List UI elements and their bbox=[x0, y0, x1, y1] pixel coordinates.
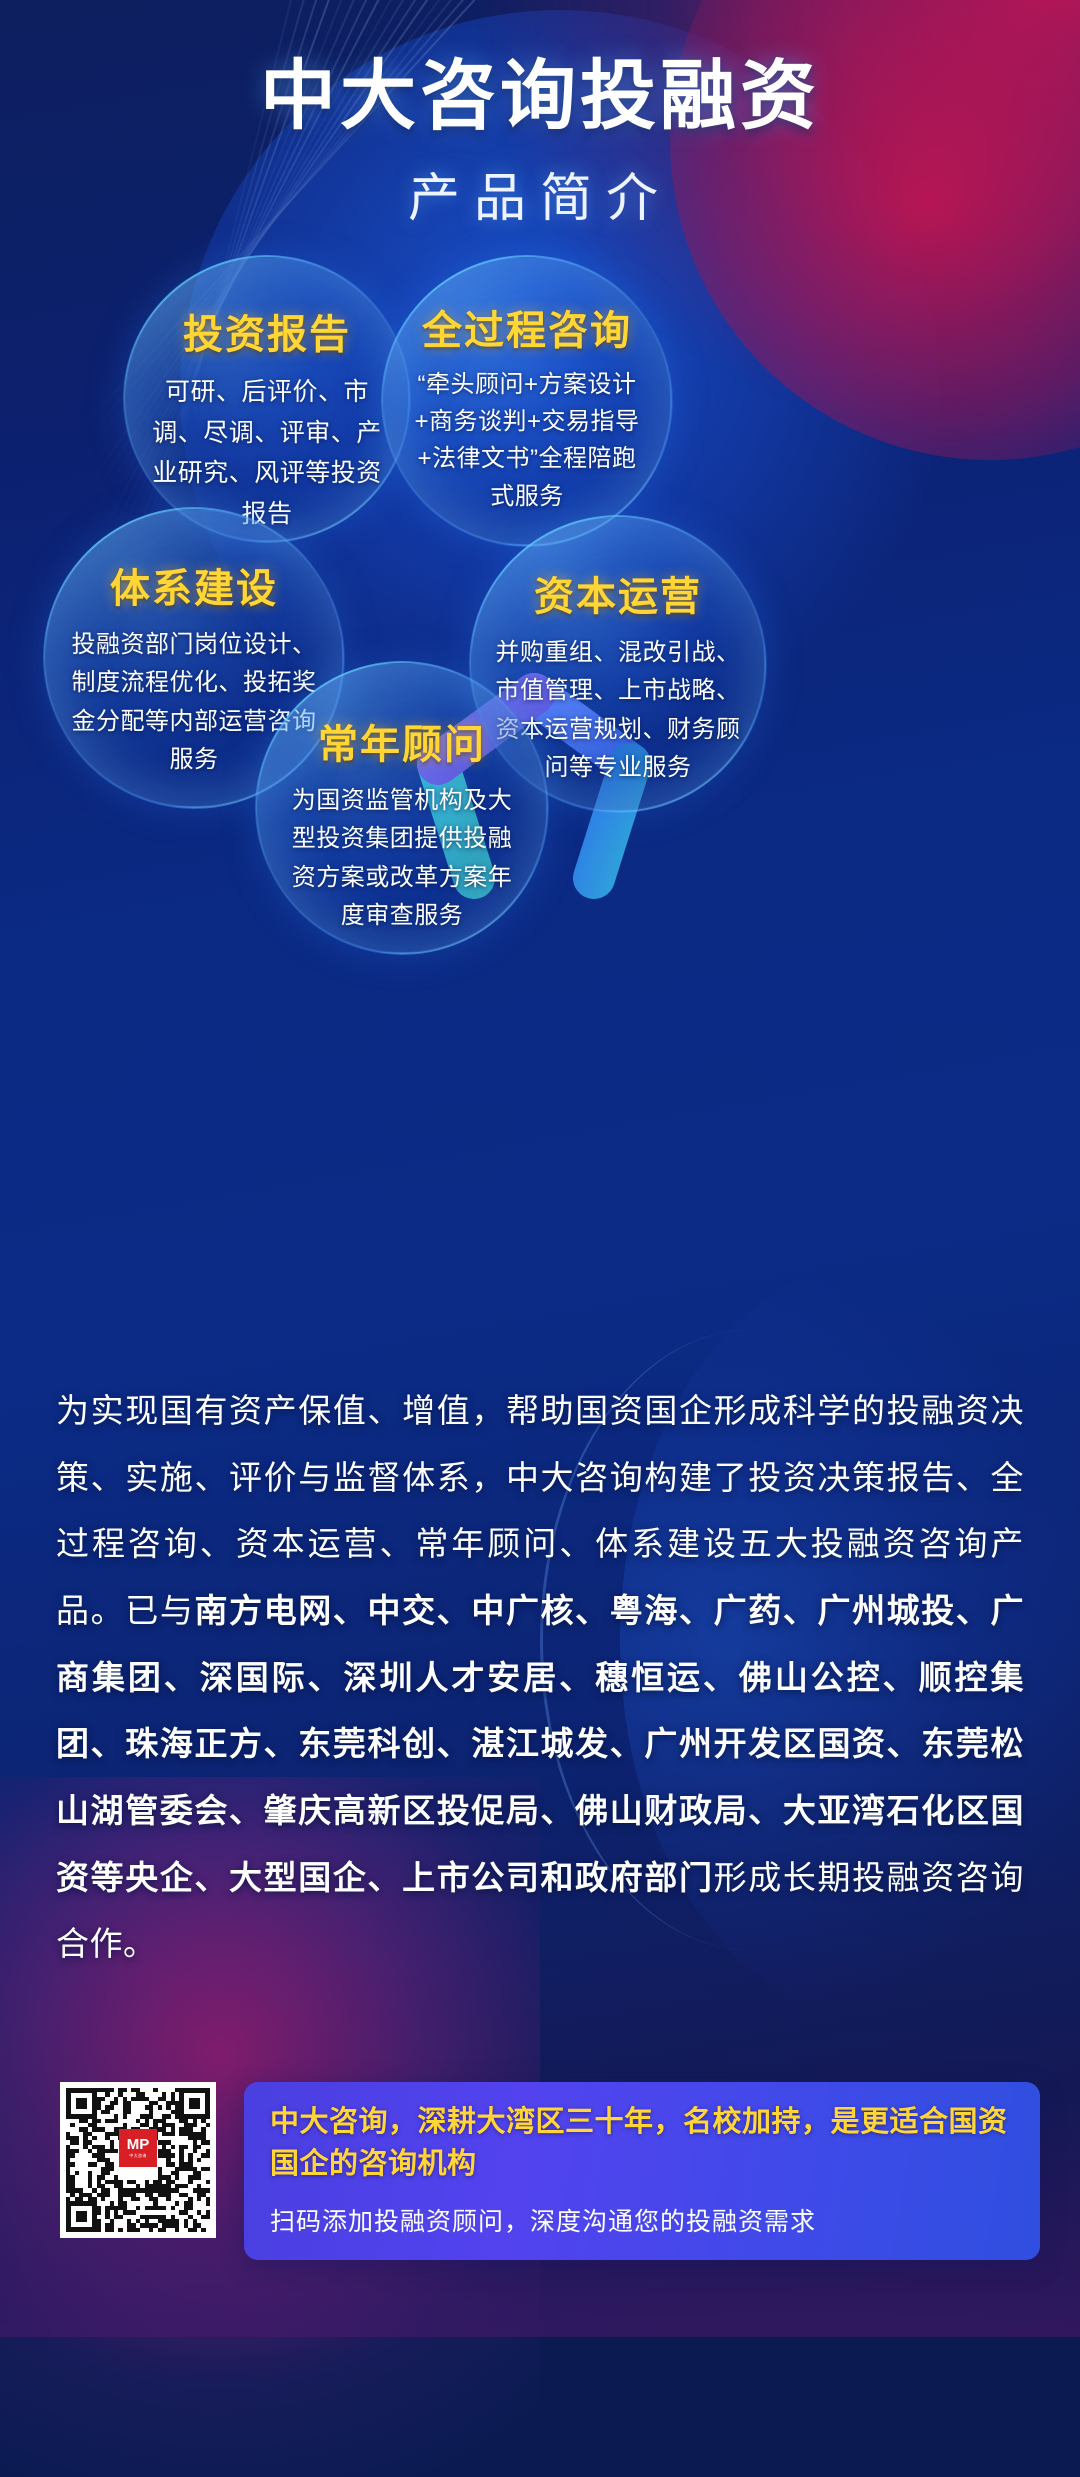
page-subtitle: 产品简介 bbox=[0, 156, 1080, 231]
bubble-title-advisor: 常年顾问 bbox=[318, 712, 486, 770]
page-title: 中大咨询投融资 bbox=[0, 56, 1080, 138]
bubble-title-system: 体系建设 bbox=[110, 556, 278, 614]
qr-logo-text: MP bbox=[127, 2137, 150, 2152]
qr-code-logo: MP 中大咨询 bbox=[119, 2129, 157, 2167]
bubble-full-process-consulting[interactable]: 全过程咨询 “牵头顾问+方案设计+商务谈判+交易指导+法律文书”全程陪跑式服务 bbox=[382, 256, 672, 546]
bubble-body-process: “牵头顾问+方案设计+商务谈判+交易指导+法律文书”全程陪跑式服务 bbox=[409, 366, 645, 515]
qr-code[interactable]: MP 中大咨询 bbox=[60, 2082, 216, 2238]
slogan-banner: 中大咨询，深耕大湾区三十年，名校加持，是更适合国资国企的咨询机构 扫码添加投融资… bbox=[244, 2082, 1040, 2260]
bubble-title-process: 全过程咨询 bbox=[422, 298, 632, 356]
bubble-investment-report[interactable]: 投资报告 可研、后评价、市调、尽调、评审、产业研究、风评等投资报告 bbox=[124, 256, 410, 542]
footer: MP 中大咨询 中大咨询，深耕大湾区三十年，名校加持，是更适合国资国企的咨询机构… bbox=[60, 2082, 1040, 2262]
bubble-body-advisor: 为国资监管机构及大型投资集团提供投融资方案或改革方案年度审查服务 bbox=[282, 782, 522, 936]
slogan-sub-text: 扫码添加投融资顾问，深度沟通您的投融资需求 bbox=[270, 2202, 1014, 2238]
bubble-annual-advisor[interactable]: 常年顾问 为国资监管机构及大型投资集团提供投融资方案或改革方案年度审查服务 bbox=[256, 662, 548, 954]
bubble-title-report: 投资报告 bbox=[183, 302, 351, 360]
qr-logo-subtext: 中大咨询 bbox=[129, 2154, 146, 2158]
paragraph-clients: 南方电网、中交、中广核、粤海、广药、广州城投、广商集团、深国际、深圳人才安居、穗… bbox=[56, 1592, 1024, 1896]
bubble-title-capital: 资本运营 bbox=[534, 564, 702, 622]
slogan-main-text: 中大咨询，深耕大湾区三十年，名校加持，是更适合国资国企的咨询机构 bbox=[270, 2102, 1014, 2186]
header: 中大咨询投融资 产品简介 bbox=[0, 56, 1080, 231]
description-paragraph: 为实现国有资产保值、增值，帮助国资国企形成科学的投融资决策、实施、评价与监督体系… bbox=[56, 1378, 1024, 1978]
